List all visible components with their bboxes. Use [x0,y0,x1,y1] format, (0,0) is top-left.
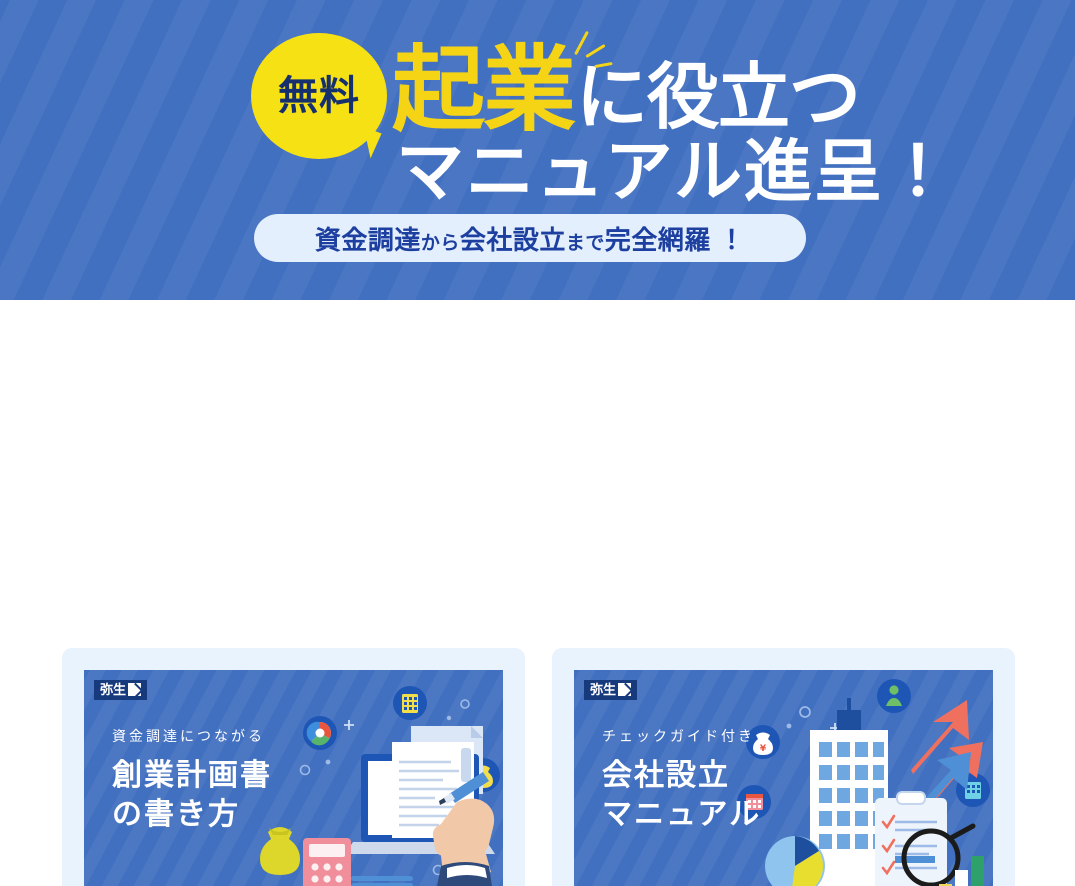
material-card-business-plan[interactable]: 弥生 資金調達につながる 創業計画書 の書き方 [62,648,525,886]
card-thumbnail-company-setup[interactable]: 弥生 チェックガイド付き 会社設立 マニュアル [574,670,993,886]
business-plan-illustration: ¥ [233,670,503,886]
hero-subtitle-text: 資金調達から会社設立まで完全網羅 ！ [315,220,745,257]
hero-subtitle-part-2: から [421,233,460,254]
sparkle-lines-icon [566,30,612,78]
thumbnail-copy-block: チェックガイド付き 会社設立 マニュアル [602,726,761,834]
yayoi-logo: 弥生 [584,680,637,700]
hero-subtitle-part-3: 会社設立 [460,225,566,255]
yayoi-logo-label: 弥生 [100,683,126,696]
hero-banner: 無料 起業 に役立つ マニュアル進呈！ 資金調達から会社設立まで完全網羅 ！ [0,0,1075,300]
thumbnail-copy-block: 資金調達につながる 創業計画書 の書き方 [112,726,272,834]
hero-headline-rest: に役立つ [576,62,860,134]
hero-subtitle-part-5: 完全網羅 ！ [605,225,745,255]
hero-subtitle-part-1: 資金調達 [315,225,421,255]
thumbnail-kicker: 資金調達につながる [112,726,272,746]
material-cards-section: 弥生 資金調達につながる 創業計画書 の書き方 [0,300,1075,348]
free-badge-bubble: 無料 [251,33,387,159]
hero-headline-line-1: 起業 に役立つ [392,30,860,134]
yayoi-logo: 弥生 [94,680,147,700]
hero-headline-highlight: 起業 [392,48,574,134]
thumbnail-kicker: チェックガイド付き [602,726,761,746]
thumbnail-title-line-1: 創業計画書 [112,756,272,795]
company-setup-illustration: ¥ [723,670,993,886]
card-thumbnail-business-plan[interactable]: 弥生 資金調達につながる 創業計画書 の書き方 [84,670,503,886]
arrow-up-right-icon [618,683,631,696]
hero-subtitle-pill: 資金調達から会社設立まで完全網羅 ！ [254,214,806,262]
arrow-up-right-icon [128,683,141,696]
hero-headline-line-2: マニュアル進呈！ [396,138,954,206]
hero-subtitle-part-4: まで [566,233,605,254]
thumbnail-title-line-2: マニュアル [602,795,761,834]
free-badge-label: 無料 [278,76,360,116]
material-card-company-setup[interactable]: 弥生 チェックガイド付き 会社設立 マニュアル [552,648,1015,886]
thumbnail-title-line-2: の書き方 [112,795,272,834]
thumbnail-title-line-1: 会社設立 [602,756,761,795]
yayoi-logo-label: 弥生 [590,683,616,696]
